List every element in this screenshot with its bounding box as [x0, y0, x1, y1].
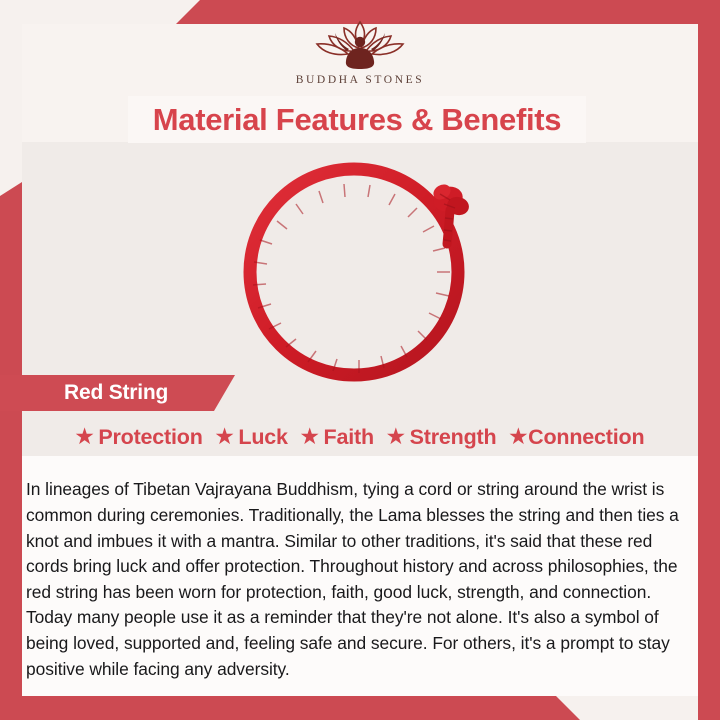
brand-logo: BUDDHA STONES [0, 18, 720, 86]
frame-band-bottom [0, 696, 720, 720]
keyword-label: Faith [324, 425, 374, 450]
lotus-meditating-figure-icon [304, 18, 416, 72]
keyword-connection: ★ Connection [509, 425, 644, 450]
brand-name: BUDDHA STONES [0, 74, 720, 86]
page-title: Material Features & Benefits [153, 102, 562, 138]
headline-banner: Material Features & Benefits [128, 96, 586, 143]
keyword-protection: ★ Protection [76, 425, 203, 450]
keyword-label: Luck [238, 425, 287, 450]
star-icon: ★ [216, 427, 234, 447]
star-icon: ★ [76, 427, 94, 447]
keyword-faith: ★ Faith [301, 425, 374, 450]
red-braided-string-bracelet-icon [226, 152, 494, 384]
frame-band-left [0, 182, 22, 720]
keyword-label: Strength [410, 425, 497, 450]
keyword-strength: ★ Strength [387, 425, 497, 450]
keyword-label: Connection [528, 425, 644, 450]
star-icon: ★ [387, 427, 405, 447]
star-icon: ★ [301, 427, 319, 447]
description-text: In lineages of Tibetan Vajrayana Buddhis… [26, 477, 692, 682]
star-icon: ★ [509, 427, 527, 447]
description-panel: In lineages of Tibetan Vajrayana Buddhis… [22, 456, 698, 696]
product-tag-banner: Red String [0, 375, 235, 411]
product-tag-label: Red String [64, 381, 168, 405]
benefit-keywords: ★ Protection ★ Luck ★ Faith ★ Strength ★… [22, 420, 698, 454]
keyword-label: Protection [98, 425, 202, 450]
keyword-luck: ★ Luck [216, 425, 288, 450]
product-image [22, 144, 698, 392]
frame-band-right [698, 0, 720, 720]
infographic-poster: BUDDHA STONES Material Features & Benefi… [0, 0, 720, 720]
